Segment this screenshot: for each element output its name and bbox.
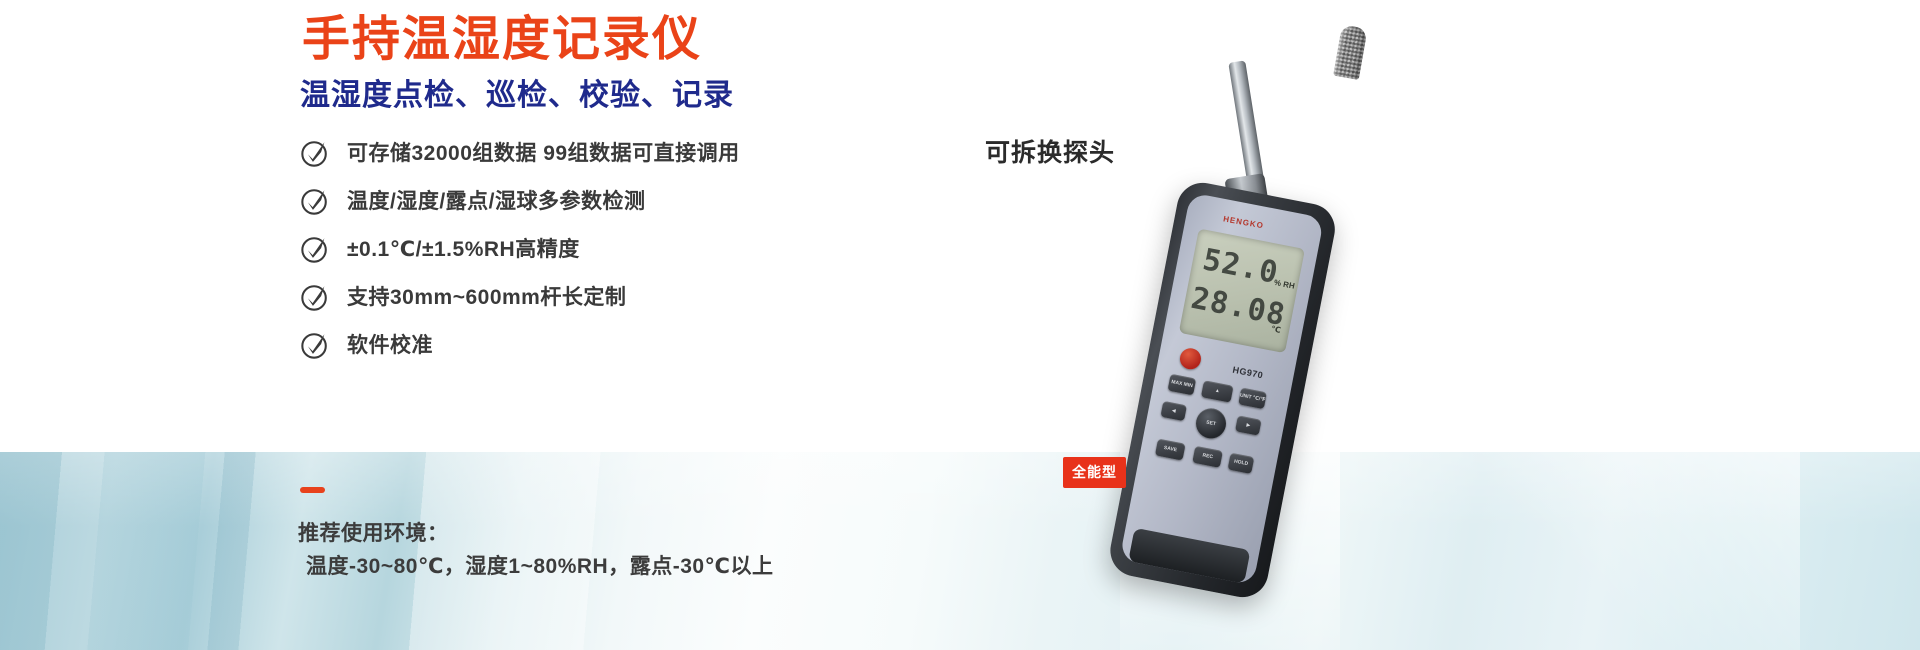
list-item: 可存储32000组数据 99组数据可直接调用 <box>300 130 960 176</box>
key-maxmin[interactable]: MAX MIN <box>1168 374 1197 396</box>
usage-note: 推荐使用环境： 温度-30~80℃，湿度1~80%RH，露点-30℃以上 <box>298 518 774 584</box>
key-hold[interactable]: HOLD <box>1228 453 1255 474</box>
check-circle-icon <box>300 234 330 264</box>
feature-list: 可存储32000组数据 99组数据可直接调用 温度/湿度/露点/湿球多参数检测 <box>300 130 960 370</box>
list-item-label: 可存储32000组数据 99组数据可直接调用 <box>347 143 740 164</box>
content-column: 手持温湿度记录仪 温湿度点检、巡检、校验、记录 可存储32000组数据 99组数… <box>0 0 980 650</box>
key-set[interactable]: SET <box>1193 406 1228 441</box>
usage-note-detail: 温度-30~80℃，湿度1~80%RH，露点-30℃以上 <box>298 550 774 584</box>
list-item: 温度/湿度/露点/湿球多参数检测 <box>300 178 960 224</box>
usage-note-heading: 推荐使用环境： <box>298 518 774 550</box>
page-subtitle: 温湿度点检、巡检、校验、记录 <box>300 78 734 114</box>
list-item-label: ±0.1℃/±1.5%RH高精度 <box>347 239 580 260</box>
device-lcd-screen: 52.0 % RH 28.08 ℃ <box>1179 229 1305 354</box>
list-item: 支持30mm~600mm杆长定制 <box>300 274 960 320</box>
device-keypad: MAX MIN ▲ UNIT ℃/℉ ◀ SET ▶ SAVE REC HOLD <box>1146 373 1279 512</box>
product-image-area <box>940 0 1920 650</box>
check-circle-icon <box>300 330 330 360</box>
lcd-humidity-unit: % RH <box>1273 278 1295 291</box>
key-right[interactable]: ▶ <box>1235 415 1262 435</box>
list-item: 软件校准 <box>300 322 960 368</box>
key-save[interactable]: SAVE <box>1155 439 1186 461</box>
product-banner: 手持温湿度记录仪 温湿度点检、巡检、校验、记录 可存储32000组数据 99组数… <box>0 0 1920 650</box>
key-left[interactable]: ◀ <box>1160 401 1187 421</box>
check-circle-icon <box>300 138 330 168</box>
page-title: 手持温湿度记录仪 <box>302 13 702 67</box>
list-item-label: 支持30mm~600mm杆长定制 <box>347 287 626 308</box>
status-badge: 全能型 <box>1063 457 1126 488</box>
check-circle-icon <box>300 282 330 312</box>
probe-label: 可拆换探头 <box>985 133 1115 169</box>
list-item-label: 温度/湿度/露点/湿球多参数检测 <box>347 191 646 212</box>
key-rec[interactable]: REC <box>1192 446 1223 468</box>
lcd-temperature-unit: ℃ <box>1270 324 1281 335</box>
list-item-label: 软件校准 <box>347 335 433 356</box>
check-circle-icon <box>300 186 330 216</box>
note-divider-dash <box>300 487 325 493</box>
list-item: ±0.1℃/±1.5%RH高精度 <box>300 226 960 272</box>
key-unit[interactable]: UNIT ℃/℉ <box>1238 388 1267 410</box>
